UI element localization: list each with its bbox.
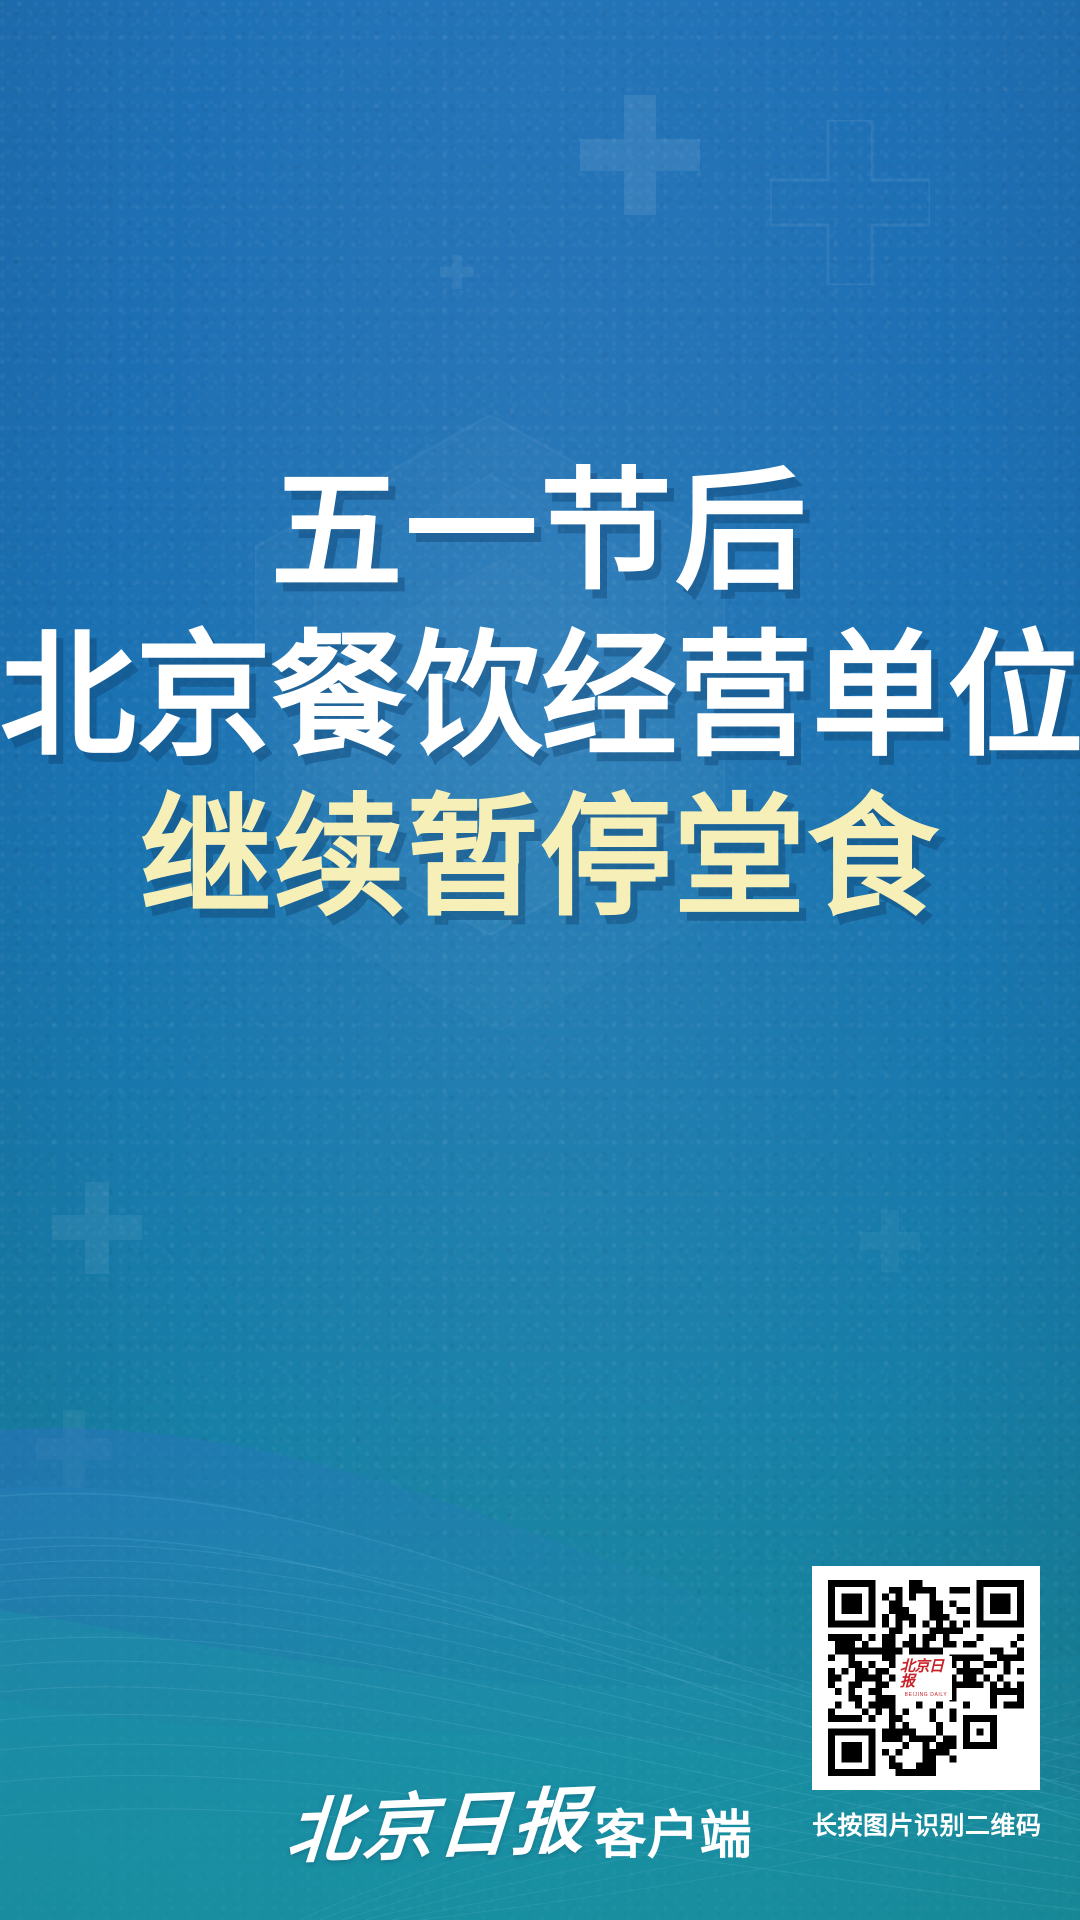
brand-client-label: 客户端 (595, 1810, 753, 1868)
headline-line-2: 北京餐饮经营单位 (0, 617, 1080, 777)
qr-code-block[interactable]: 北京日报 BEIJING DAILY 长按图片识别二维码 (812, 1566, 1040, 1842)
medical-cross-lower-left-icon (36, 1410, 112, 1488)
medical-cross-small-icon (440, 255, 474, 289)
qr-center-logo: 北京日报 BEIJING DAILY (900, 1656, 952, 1700)
qr-logo-cn-text: 北京日报 (900, 1659, 952, 1689)
medical-cross-outline-icon (770, 120, 930, 285)
qr-caption: 长按图片识别二维码 (812, 1806, 1040, 1842)
headline-block: 五一节后 北京餐饮经营单位 继续暂停堂食 (0, 455, 1080, 937)
brand-logo: 北京日报 客户端 (285, 1796, 752, 1868)
headline-line-3: 继续暂停堂食 (0, 781, 1080, 937)
headline-line-1: 五一节后 (0, 455, 1080, 611)
medical-cross-right-icon (860, 1210, 920, 1272)
medical-cross-left-icon (52, 1182, 142, 1274)
poster-canvas: 五一节后 北京餐饮经营单位 继续暂停堂食 (0, 0, 1080, 1920)
qr-logo-en-text: BEIJING DAILY (905, 1692, 948, 1698)
qr-code-image[interactable]: 北京日报 BEIJING DAILY (812, 1566, 1040, 1790)
medical-cross-icon (580, 95, 700, 215)
brand-name-script: 北京日报 (285, 1785, 590, 1868)
